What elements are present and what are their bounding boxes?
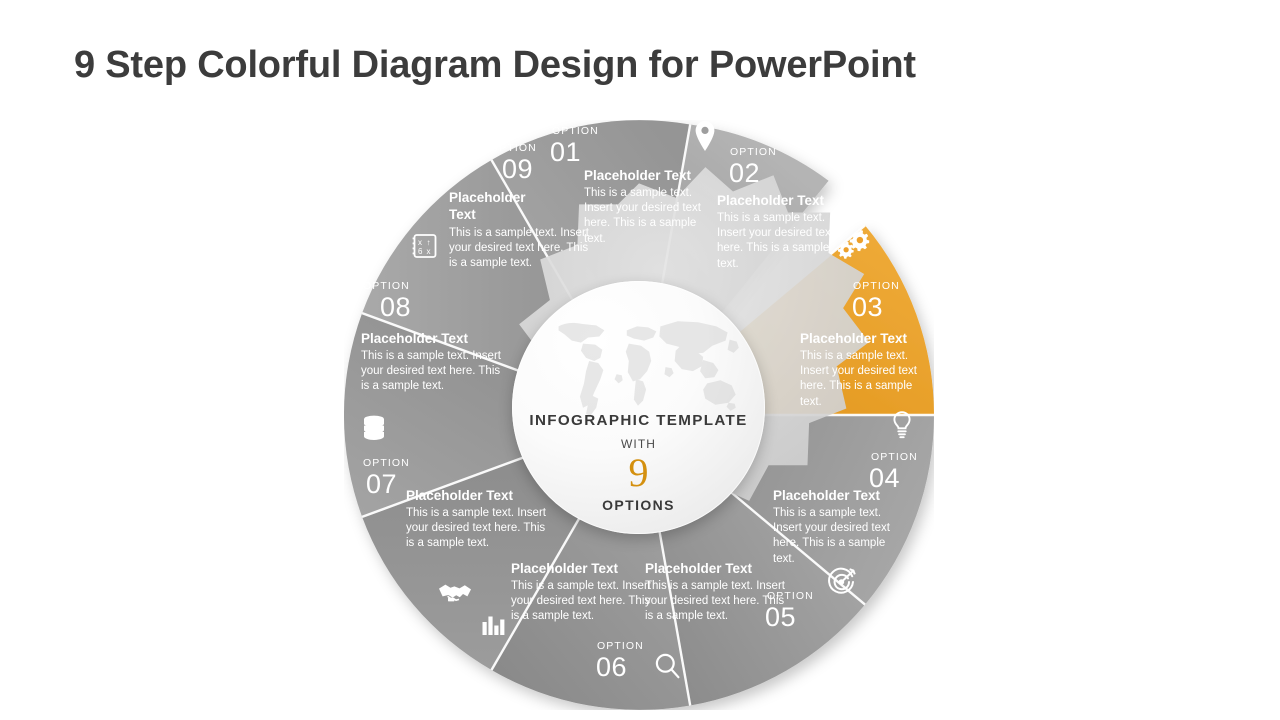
segment-06-title: Placeholder Text — [511, 561, 618, 578]
segment-09-number: 09 — [502, 154, 533, 185]
slide-canvas: 9 Step Colorful Diagram Design for Power… — [0, 0, 1280, 720]
segment-07-number: 07 — [366, 469, 397, 500]
segment-01-option-label: OPTION — [552, 125, 599, 137]
world-map-graphic — [532, 307, 746, 419]
segment-03-option-label: OPTION — [853, 280, 900, 292]
segment-08-title: Placeholder Text — [361, 331, 468, 348]
segment-01-body: This is a sample text. Insert your desir… — [584, 186, 720, 247]
segment-03-body: This is a sample text. Insert your desir… — [800, 349, 936, 410]
page-title: 9 Step Colorful Diagram Design for Power… — [74, 44, 916, 87]
segment-08-option-label: OPTION — [363, 280, 410, 292]
center-main-label: INFOGRAPHIC TEMPLATE — [512, 412, 765, 429]
segment-07-title: Placeholder Text — [406, 488, 513, 505]
segment-02-option-label: OPTION — [730, 146, 777, 158]
center-disc: INFOGRAPHIC TEMPLATE WITH 9 OPTIONS — [512, 281, 765, 534]
center-with-label: WITH — [512, 437, 765, 451]
segment-05-body: This is a sample text. Insert your desir… — [645, 579, 785, 625]
segment-07-option-label: OPTION — [363, 457, 410, 469]
segment-08-number: 08 — [380, 292, 411, 323]
segment-01-title: Placeholder Text — [584, 168, 691, 185]
segment-02-title: Placeholder Text — [717, 193, 824, 210]
segment-04-body: This is a sample text. Insert your desir… — [773, 506, 909, 567]
segment-09-title: Placeholder Text — [449, 190, 533, 224]
center-options-label: OPTIONS — [512, 497, 765, 513]
segment-02-number: 02 — [729, 158, 760, 189]
segment-05-title: Placeholder Text — [645, 561, 752, 578]
center-number: 9 — [512, 452, 765, 494]
segment-04-title: Placeholder Text — [773, 488, 880, 505]
segment-03-title: Placeholder Text — [800, 331, 907, 348]
segment-04-option-label: OPTION — [871, 451, 918, 463]
segment-02-body: This is a sample text. Insert your desir… — [717, 211, 853, 272]
segment-06-option-label: OPTION — [597, 640, 644, 652]
segment-09-body: This is a sample text. Insert your desir… — [449, 226, 589, 272]
segment-06-body: This is a sample text. Insert your desir… — [511, 579, 651, 625]
segment-03-number: 03 — [852, 292, 883, 323]
segment-07-body: This is a sample text. Insert your desir… — [406, 506, 546, 552]
segment-01-number: 01 — [550, 137, 581, 168]
segment-09-option-label: OPTION — [490, 142, 537, 154]
segment-08-body: This is a sample text. Insert your desir… — [361, 349, 501, 395]
center-copy: INFOGRAPHIC TEMPLATE WITH 9 OPTIONS — [512, 412, 765, 513]
segment-06-number: 06 — [596, 652, 627, 683]
nine-step-wheel-diagram: INFOGRAPHIC TEMPLATE WITH 9 OPTIONS OPTI… — [344, 120, 934, 710]
